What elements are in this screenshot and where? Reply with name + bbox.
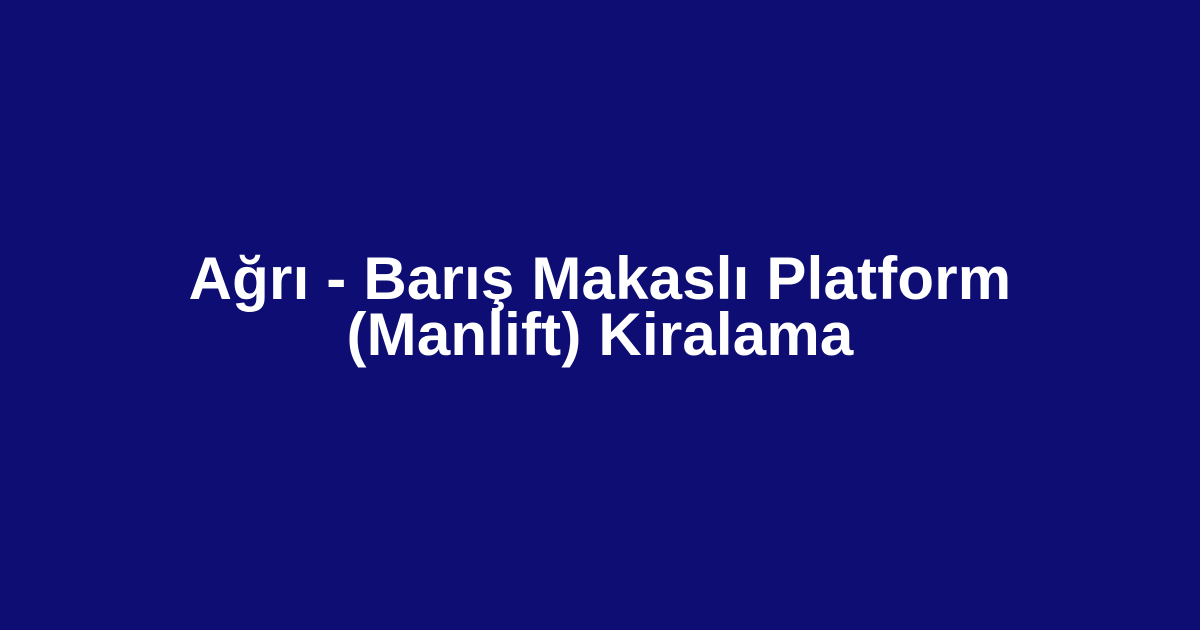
headline-block: Ağrı - Barış Makaslı Platform (Manlift) … <box>100 251 1100 363</box>
page-title: Ağrı - Barış Makaslı Platform (Manlift) … <box>120 251 1080 363</box>
preview-card: Ağrı - Barış Makaslı Platform (Manlift) … <box>0 0 1200 630</box>
